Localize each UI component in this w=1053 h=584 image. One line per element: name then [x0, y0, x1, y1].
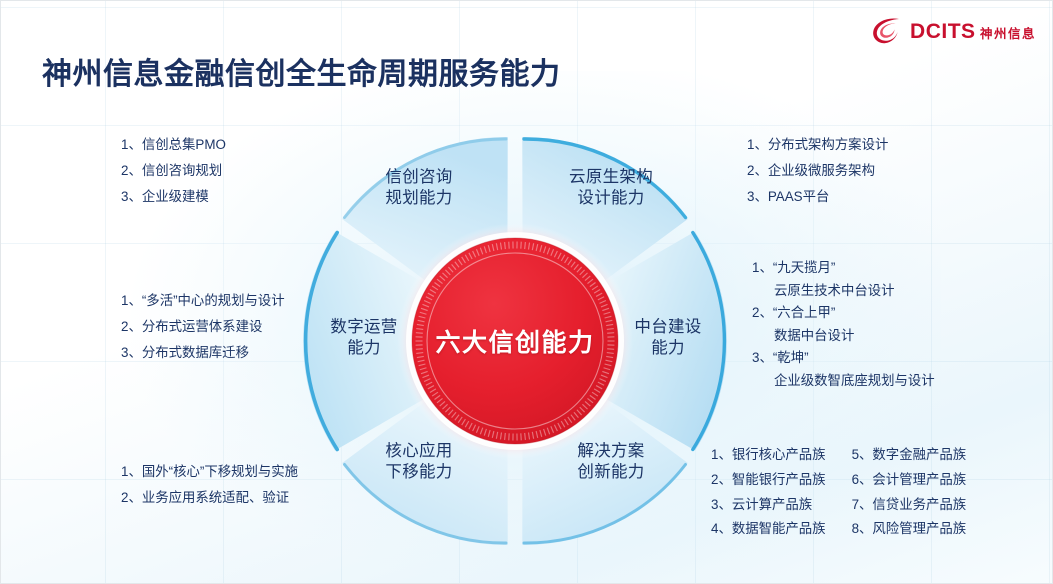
segment-label-line1: 核心应用 [385, 442, 452, 460]
segment-label-consulting: 信创咨询 规划能力 [349, 167, 489, 209]
list-item-number: 4、 [711, 517, 732, 542]
list-item-number: 2、 [121, 314, 142, 340]
list-item-text: 信创总集PMO [142, 137, 226, 152]
list-item-number: 7、 [852, 493, 873, 518]
list-item-number: 1、 [121, 459, 142, 485]
consulting-notes: 1、信创总集PMO 2、信创咨询规划 3、企业级建模 [121, 132, 226, 210]
segment-label-line1: 解决方案 [577, 442, 644, 460]
list-item-subtext: 云原生技术中台设计 [752, 280, 935, 303]
segment-label-line2: 下移能力 [385, 463, 452, 481]
list-item-number: 3、 [121, 184, 142, 210]
list-item-text: 分布式架构方案设计 [768, 137, 889, 152]
list-item-number: 2、 [747, 158, 768, 184]
list-item-text: 分布式运营体系建设 [142, 319, 263, 334]
list-item: 1、信创总集PMO [121, 132, 226, 158]
list-item: 1、银行核心产品族 [711, 443, 826, 468]
list-item: 2、“六合上甲” [752, 302, 935, 325]
segment-label-line1: 中台建设 [634, 318, 701, 336]
segment-label-line1: 信创咨询 [385, 168, 452, 186]
brand-wordmark: DCITS 神州信息 [910, 21, 1036, 42]
list-item: 3、“乾坤” [752, 347, 935, 370]
segment-label-line2: 能力 [347, 339, 381, 357]
list-item-number: 1、 [747, 132, 768, 158]
list-item-number: 3、 [752, 347, 773, 370]
list-item-number: 3、 [711, 493, 732, 518]
solution-notes-col1: 1、银行核心产品族 2、智能银行产品族 3、云计算产品族 4、数据智能产品族 [711, 443, 826, 542]
list-item: 8、风险管理产品族 [852, 517, 967, 542]
list-item-text: “六合上甲” [773, 305, 835, 320]
list-item-text: 信创咨询规划 [142, 163, 222, 178]
list-item-number: 2、 [711, 468, 732, 493]
midplatform-notes: 1、“九天揽月” 云原生技术中台设计 2、“六合上甲” 数据中台设计 3、“乾坤… [752, 257, 935, 392]
list-item: 3、企业级建模 [121, 184, 226, 210]
list-item-text: 银行核心产品族 [732, 447, 826, 462]
segment-label-line2: 规划能力 [385, 189, 452, 207]
segment-label-digital-ops: 数字运营 能力 [315, 317, 413, 359]
list-item-number: 1、 [121, 288, 142, 314]
list-item-number: 2、 [121, 485, 142, 511]
list-item-text: 信贷业务产品族 [872, 497, 966, 512]
list-item: 2、业务应用系统适配、验证 [121, 485, 298, 511]
list-item-number: 8、 [852, 517, 873, 542]
solution-notes-col2: 5、数字金融产品族 6、会计管理产品族 7、信贷业务产品族 8、风险管理产品族 [852, 443, 967, 542]
list-item-text: 会计管理产品族 [872, 472, 966, 487]
brand-logo: DCITS 神州信息 [869, 14, 1036, 48]
list-item: 2、智能银行产品族 [711, 468, 826, 493]
list-item-text: “多活”中心的规划与设计 [142, 293, 285, 308]
list-item: 1、“多活”中心的规划与设计 [121, 288, 285, 314]
brand-name-en: DCITS [910, 20, 976, 43]
list-item-text: 数据智能产品族 [732, 521, 826, 536]
list-item-text: 企业级微服务架构 [768, 163, 875, 178]
list-item-text: 国外“核心”下移规划与实施 [142, 464, 298, 479]
segment-label-line2: 设计能力 [577, 189, 644, 207]
list-item-number: 3、 [121, 340, 142, 366]
list-item: 2、信创咨询规划 [121, 158, 226, 184]
list-item: 4、数据智能产品族 [711, 517, 826, 542]
segment-label-core-app: 核心应用 下移能力 [349, 441, 489, 483]
segment-label-cloud-native: 云原生架构 设计能力 [541, 167, 681, 209]
list-item-number: 2、 [752, 302, 773, 325]
list-item-text: 智能银行产品族 [732, 472, 826, 487]
list-item-number: 1、 [711, 443, 732, 468]
list-item-text: 业务应用系统适配、验证 [142, 490, 289, 505]
segment-label-midplatform: 中台建设 能力 [619, 317, 717, 359]
segment-label-line2: 能力 [651, 339, 685, 357]
list-item: 3、分布式数据库迁移 [121, 340, 285, 366]
slide-canvas: DCITS 神州信息 神州信息金融信创全生命周期服务能力 [0, 0, 1053, 584]
segment-label-line1: 数字运营 [330, 318, 397, 336]
list-item: 5、数字金融产品族 [852, 443, 967, 468]
center-label: 六大信创能力 [435, 323, 594, 359]
list-item-text: 风险管理产品族 [872, 521, 966, 536]
list-item-text: 数字金融产品族 [872, 447, 966, 462]
list-item: 3、PAAS平台 [747, 184, 888, 210]
list-item: 1、国外“核心”下移规划与实施 [121, 459, 298, 485]
digital-ops-notes: 1、“多活”中心的规划与设计 2、分布式运营体系建设 3、分布式数据库迁移 [121, 288, 285, 366]
segment-label-line2: 创新能力 [577, 463, 644, 481]
list-item-text: “乾坤” [773, 350, 809, 365]
list-item: 2、分布式运营体系建设 [121, 314, 285, 340]
list-item-text: 企业级建模 [142, 189, 209, 204]
list-item-text: PAAS平台 [768, 189, 830, 204]
list-item: 1、分布式架构方案设计 [747, 132, 888, 158]
list-item-number: 2、 [121, 158, 142, 184]
list-item: 3、云计算产品族 [711, 493, 826, 518]
solution-notes: 1、银行核心产品族 2、智能银行产品族 3、云计算产品族 4、数据智能产品族 5… [711, 443, 966, 542]
segment-label-solution: 解决方案 创新能力 [541, 441, 681, 483]
list-item: 6、会计管理产品族 [852, 468, 967, 493]
list-item: 7、信贷业务产品族 [852, 493, 967, 518]
six-capabilities-donut: 信创咨询 规划能力 云原生架构 设计能力 中台建设 能力 解决方案 创新能力 核… [303, 129, 727, 553]
list-item-number: 3、 [747, 184, 768, 210]
segment-label-line1: 云原生架构 [569, 168, 653, 186]
list-item-text: “九天揽月” [773, 260, 835, 275]
list-item-number: 5、 [852, 443, 873, 468]
list-item-subtext: 企业级数智底座规划与设计 [752, 370, 935, 393]
cloud-native-notes: 1、分布式架构方案设计 2、企业级微服务架构 3、PAAS平台 [747, 132, 888, 210]
core-app-notes: 1、国外“核心”下移规划与实施 2、业务应用系统适配、验证 [121, 459, 298, 511]
list-item-text: 云计算产品族 [732, 497, 812, 512]
page-title: 神州信息金融信创全生命周期服务能力 [42, 49, 561, 93]
list-item: 1、“九天揽月” [752, 257, 935, 280]
dcits-swirl-logo-icon [869, 14, 903, 48]
list-item-number: 1、 [121, 132, 142, 158]
list-item-subtext: 数据中台设计 [752, 325, 935, 348]
list-item: 2、企业级微服务架构 [747, 158, 888, 184]
list-item-text: 分布式数据库迁移 [142, 345, 249, 360]
brand-name-cn: 神州信息 [980, 27, 1036, 41]
list-item-number: 6、 [852, 468, 873, 493]
list-item-number: 1、 [752, 257, 773, 280]
